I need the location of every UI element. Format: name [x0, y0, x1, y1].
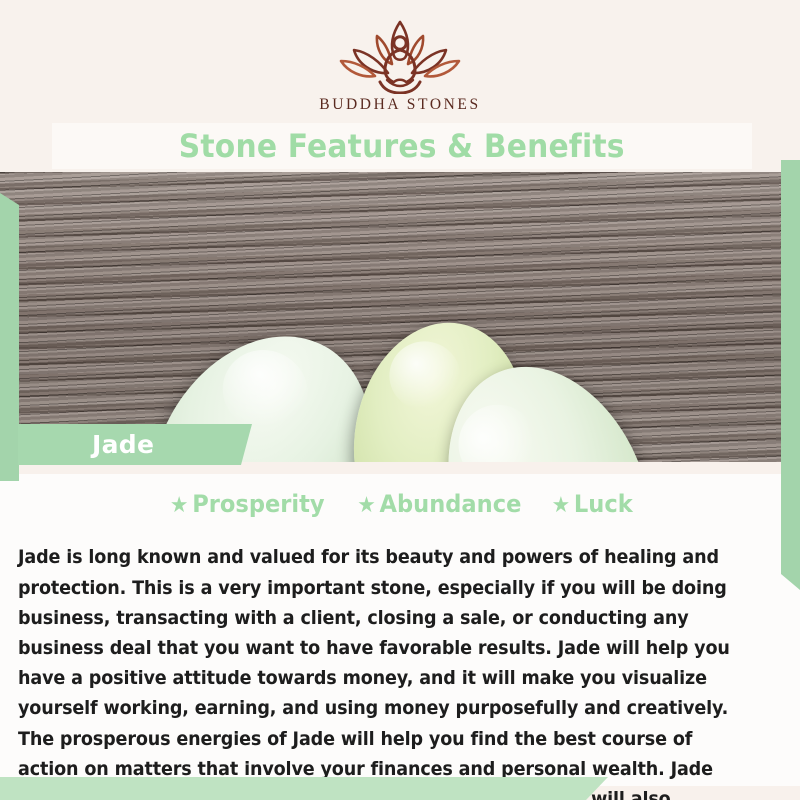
page-title: Stone Features & Benefits [179, 127, 625, 165]
stone-description: Jade is long known and valued for its be… [18, 543, 753, 800]
content-panel: ★Prosperity ★Abundance ★Luck Jade is lon… [0, 474, 800, 786]
frame-accent-bottom [0, 777, 608, 800]
stone-photo [0, 172, 800, 462]
stone-name-banner: Jade [18, 424, 252, 465]
lotus-meditation-icon [330, 16, 470, 94]
benefit-item-prosperity: ★Prosperity [170, 490, 325, 518]
frame-accent-left [0, 193, 19, 481]
brand-logo: BUDDHA STONES [0, 16, 800, 114]
frame-accent-right [781, 160, 800, 590]
title-band: Stone Features & Benefits [52, 123, 752, 169]
product-info-card: BUDDHA STONES Stone Features & Benefits … [0, 0, 800, 800]
star-icon: ★ [170, 493, 189, 518]
brand-name: BUDDHA STONES [0, 96, 800, 114]
benefit-label: Prosperity [192, 490, 324, 518]
benefits-list: ★Prosperity ★Abundance ★Luck [0, 490, 800, 518]
stone-name-label: Jade [92, 430, 154, 459]
benefit-label: Luck [574, 490, 633, 518]
content-area: ★Prosperity ★Abundance ★Luck Jade is lon… [0, 462, 800, 800]
benefit-item-abundance: ★Abundance [357, 490, 521, 518]
star-icon: ★ [357, 493, 376, 518]
benefit-label: Abundance [379, 490, 521, 518]
benefit-item-luck: ★Luck [551, 490, 632, 518]
star-icon: ★ [551, 493, 570, 518]
